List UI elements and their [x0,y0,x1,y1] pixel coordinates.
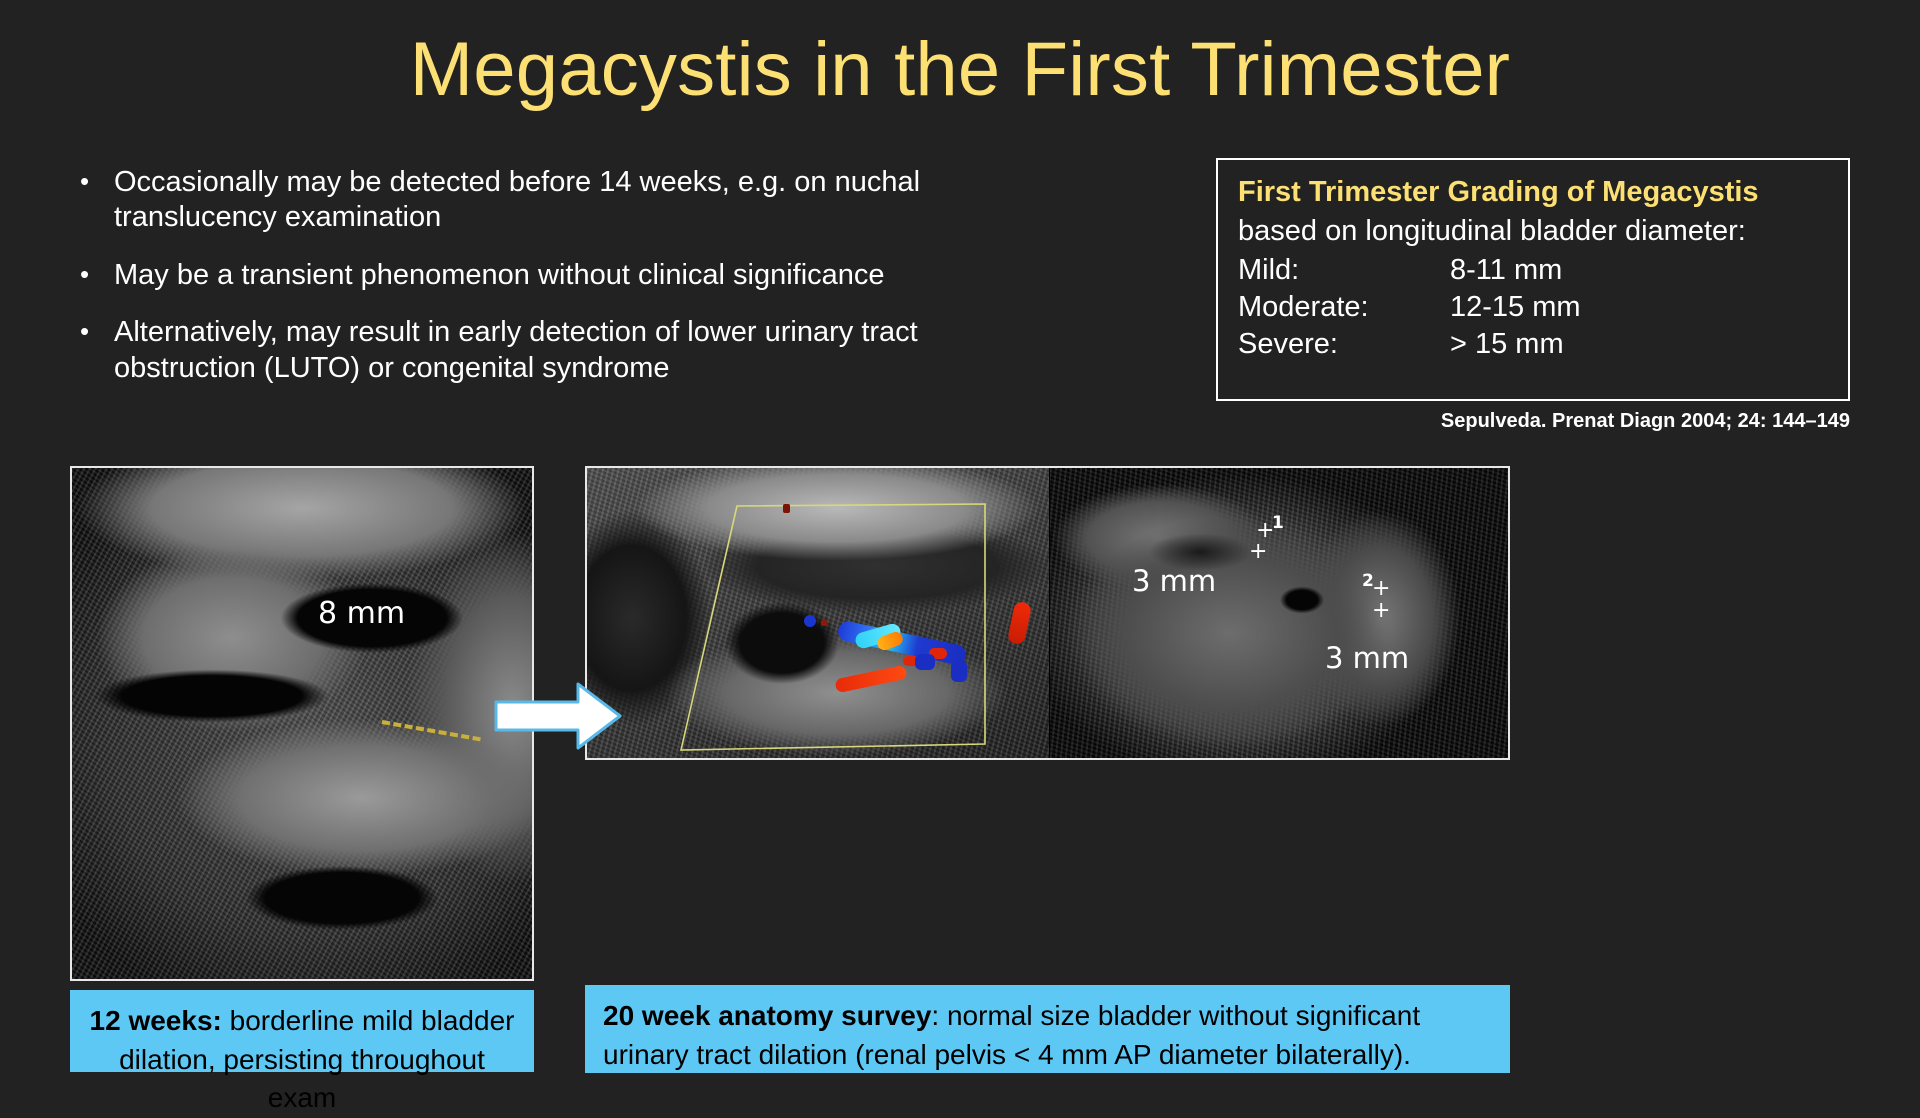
caption-20-weeks-strong: 20 week anatomy survey [603,1000,931,1031]
measurement-label-3mm-left: 3 mm [1132,564,1216,598]
ultrasound-panel-group-20-weeks: 1 + + 2 + + 3 mm 3 mm [585,466,1510,760]
caliper-mark-2b: + [1372,600,1390,622]
caption-20-weeks: 20 week anatomy survey: normal size blad… [585,985,1510,1073]
doppler-flow-blue-spot [951,660,967,682]
page-title: Megacystis in the First Trimester [0,30,1920,110]
caliper-mark-1b: + [1249,541,1267,563]
list-item: • May be a transient phenomenon without … [80,258,960,293]
grading-label: Severe: [1238,326,1450,363]
bullet-list: • Occasionally may be detected before 14… [80,165,960,408]
doppler-flow-speck [783,504,790,513]
grading-value: > 15 mm [1450,326,1830,363]
grading-row-moderate: Moderate: 12-15 mm [1238,289,1830,326]
transition-arrow-icon [494,680,622,752]
grading-heading: First Trimester Grading of Megacystis [1238,174,1830,211]
doppler-flow-speck [821,620,827,626]
grading-value: 12-15 mm [1450,289,1830,326]
bullet-text: Occasionally may be detected before 14 w… [114,165,960,236]
bullet-text: Alternatively, may result in early detec… [114,315,960,386]
bullet-dot-icon: • [80,258,114,292]
grading-row-mild: Mild: 8-11 mm [1238,252,1830,289]
bullet-dot-icon: • [80,315,114,349]
caption-12-weeks: 12 weeks: borderline mild bladder dilati… [70,990,534,1072]
list-item: • Alternatively, may result in early det… [80,315,960,386]
grading-value: 8-11 mm [1450,252,1830,289]
grading-label: Moderate: [1238,289,1450,326]
ultrasound-image-renal-pelvis [1050,468,1508,758]
doppler-flow-blue-spot [915,654,935,670]
ultrasound-panel-12-weeks: 8 mm [70,466,534,981]
ultrasound-image-12-weeks [72,468,532,979]
ultrasound-panel-doppler [587,468,1049,758]
measurement-label-8mm: 8 mm [318,596,405,631]
caliper-mark-2a: + [1372,578,1390,600]
grading-label: Mild: [1238,252,1450,289]
ultrasound-panel-renal-pelvis: 1 + + 2 + + 3 mm 3 mm [1050,468,1508,758]
grading-criteria-box: First Trimester Grading of Megacystis ba… [1216,158,1850,401]
grading-row-severe: Severe: > 15 mm [1238,326,1830,363]
doppler-flow-blue-dot [804,615,816,627]
measurement-label-3mm-right: 3 mm [1325,641,1409,675]
grading-subheading: based on longitudinal bladder diameter: [1238,213,1830,250]
bullet-dot-icon: • [80,165,114,199]
list-item: • Occasionally may be detected before 14… [80,165,960,236]
doppler-roi-box-icon [667,498,987,758]
bullet-text: May be a transient phenomenon without cl… [114,258,960,293]
citation-reference: Sepulveda. Prenat Diagn 2004; 24: 144–14… [1216,410,1850,433]
caption-12-weeks-strong: 12 weeks: [90,1005,222,1036]
